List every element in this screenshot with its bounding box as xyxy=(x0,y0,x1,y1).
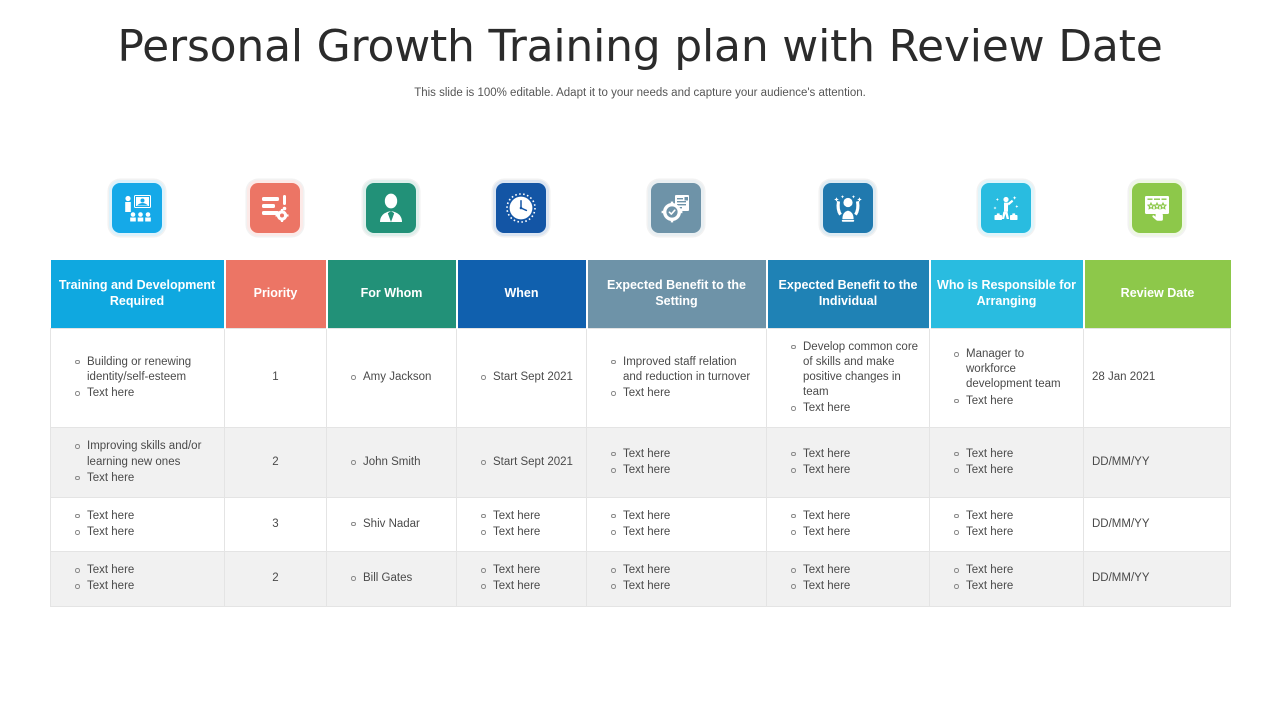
list-item: Text here xyxy=(954,463,1075,478)
list-item: Bill Gates xyxy=(351,571,448,586)
column-header-7: Review Date xyxy=(1084,260,1231,328)
review-date-cell: DD/MM/YY xyxy=(1084,497,1231,551)
list-item: Improving skills and/or learning new one… xyxy=(75,439,216,469)
list-item: Text here xyxy=(791,401,921,416)
list-item: Text here xyxy=(954,447,1075,462)
column-header-5: Expected Benefit to the Individual xyxy=(767,260,930,328)
when-cell: Start Sept 2021 xyxy=(457,428,587,498)
list-item: Text here xyxy=(954,563,1075,578)
list-item: Start Sept 2021 xyxy=(481,370,578,385)
list-item: Text here xyxy=(611,386,758,401)
icon-cell-1 xyxy=(224,180,326,236)
list-item: Text here xyxy=(954,579,1075,594)
priority-cell: 2 xyxy=(225,428,327,498)
list-item: Building or renewing identity/self-estee… xyxy=(75,355,216,385)
list-item: Amy Jackson xyxy=(351,370,448,385)
list-item: John Smith xyxy=(351,455,448,470)
table-row: Improving skills and/or learning new one… xyxy=(51,428,1231,498)
benefit-setting-cell: Improved staff relation and reduction in… xyxy=(587,328,767,428)
list-item: Text here xyxy=(611,579,758,594)
person-presenting-icon xyxy=(978,180,1034,236)
responsible-cell: Text hereText here xyxy=(930,428,1084,498)
for-whom-cell: Bill Gates xyxy=(327,552,457,606)
benefit-setting-cell: Text hereText here xyxy=(587,428,767,498)
page-subtitle: This slide is 100% editable. Adapt it to… xyxy=(0,71,1280,99)
gear-document-check-icon xyxy=(648,180,704,236)
column-header-6: Who is Responsible for Arranging xyxy=(930,260,1084,328)
icon-cell-3 xyxy=(456,180,586,236)
list-item: Start Sept 2021 xyxy=(481,455,578,470)
page-title: Personal Growth Training plan with Revie… xyxy=(0,0,1280,71)
review-rating-icon xyxy=(1129,180,1185,236)
list-item: Text here xyxy=(481,579,578,594)
list-item: Text here xyxy=(954,525,1075,540)
responsible-cell: Manager to workforce development teamTex… xyxy=(930,328,1084,428)
benefit-setting-cell: Text hereText here xyxy=(587,497,767,551)
training-cell: Text hereText here xyxy=(51,552,225,606)
list-item: Text here xyxy=(611,509,758,524)
training-presentation-icon xyxy=(109,180,165,236)
column-header-3: When xyxy=(457,260,587,328)
table-row: Building or renewing identity/self-estee… xyxy=(51,328,1231,428)
icon-strip xyxy=(50,180,1230,236)
benefit-individual-cell: Text hereText here xyxy=(767,497,930,551)
benefit-individual-cell: Develop common core of skills and make p… xyxy=(767,328,930,428)
when-cell: Text hereText here xyxy=(457,552,587,606)
list-item: Text here xyxy=(481,509,578,524)
list-item: Text here xyxy=(954,509,1075,524)
for-whom-cell: Shiv Nadar xyxy=(327,497,457,551)
for-whom-cell: Amy Jackson xyxy=(327,328,457,428)
column-header-0: Training and Development Required xyxy=(51,260,225,328)
person-celebrating-icon xyxy=(820,180,876,236)
column-header-4: Expected Benefit to the Setting xyxy=(587,260,767,328)
column-header-2: For Whom xyxy=(327,260,457,328)
clock-icon xyxy=(493,180,549,236)
list-item: Text here xyxy=(611,525,758,540)
list-item: Text here xyxy=(75,563,216,578)
training-plan-table: Training and Development RequiredPriorit… xyxy=(50,260,1231,607)
list-item: Text here xyxy=(75,471,216,486)
list-item: Develop common core of skills and make p… xyxy=(791,340,921,401)
list-item: Text here xyxy=(791,563,921,578)
icon-cell-2 xyxy=(326,180,456,236)
priority-cell: 3 xyxy=(225,497,327,551)
list-item: Text here xyxy=(611,563,758,578)
icon-cell-6 xyxy=(929,180,1083,236)
table-row: Text hereText here3Shiv NadarText hereTe… xyxy=(51,497,1231,551)
table-row: Text hereText here2Bill GatesText hereTe… xyxy=(51,552,1231,606)
review-date-cell: 28 Jan 2021 xyxy=(1084,328,1231,428)
training-cell: Improving skills and/or learning new one… xyxy=(51,428,225,498)
list-item: Text here xyxy=(75,386,216,401)
list-item: Text here xyxy=(791,447,921,462)
benefit-individual-cell: Text hereText here xyxy=(767,552,930,606)
list-item: Text here xyxy=(791,509,921,524)
list-item: Text here xyxy=(75,525,216,540)
list-item: Text here xyxy=(611,463,758,478)
list-item: Text here xyxy=(791,463,921,478)
priority-list-settings-icon xyxy=(247,180,303,236)
list-item: Text here xyxy=(481,563,578,578)
icon-cell-5 xyxy=(766,180,929,236)
priority-cell: 1 xyxy=(225,328,327,428)
person-profile-icon xyxy=(363,180,419,236)
review-date-cell: DD/MM/YY xyxy=(1084,428,1231,498)
list-item: Manager to workforce development team xyxy=(954,347,1075,393)
when-cell: Start Sept 2021 xyxy=(457,328,587,428)
icon-cell-0 xyxy=(50,180,224,236)
list-item: Shiv Nadar xyxy=(351,517,448,532)
list-item: Text here xyxy=(481,525,578,540)
icon-cell-4 xyxy=(586,180,766,236)
list-item: Text here xyxy=(611,447,758,462)
training-cell: Building or renewing identity/self-estee… xyxy=(51,328,225,428)
for-whom-cell: John Smith xyxy=(327,428,457,498)
table-body: Building or renewing identity/self-estee… xyxy=(51,328,1231,606)
table-header-row: Training and Development RequiredPriorit… xyxy=(51,260,1231,328)
responsible-cell: Text hereText here xyxy=(930,497,1084,551)
list-item: Text here xyxy=(75,579,216,594)
icon-cell-7 xyxy=(1083,180,1230,236)
list-item: Improved staff relation and reduction in… xyxy=(611,355,758,385)
training-cell: Text hereText here xyxy=(51,497,225,551)
priority-cell: 2 xyxy=(225,552,327,606)
benefit-individual-cell: Text hereText here xyxy=(767,428,930,498)
responsible-cell: Text hereText here xyxy=(930,552,1084,606)
list-item: Text here xyxy=(791,579,921,594)
benefit-setting-cell: Text hereText here xyxy=(587,552,767,606)
list-item: Text here xyxy=(75,509,216,524)
when-cell: Text hereText here xyxy=(457,497,587,551)
list-item: Text here xyxy=(954,394,1075,409)
column-header-1: Priority xyxy=(225,260,327,328)
list-item: Text here xyxy=(791,525,921,540)
review-date-cell: DD/MM/YY xyxy=(1084,552,1231,606)
